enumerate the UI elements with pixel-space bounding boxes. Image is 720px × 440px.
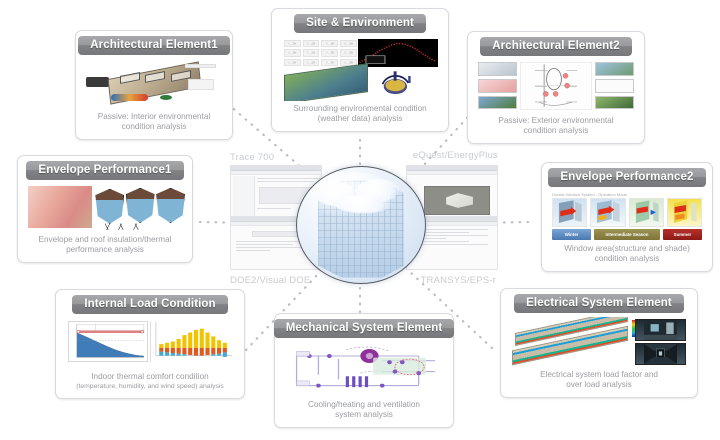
panel-caption-architectural-element-2: Passive: Exterior environmental conditio… xyxy=(472,114,640,140)
panel-electrical-system-element[interactable]: Electrical System Element xyxy=(500,288,698,398)
caption-line-1: Indoor thermal comfort condition xyxy=(91,372,208,381)
caption-sub: (temperature, humidity, and wind speed) … xyxy=(64,383,236,391)
panel-caption-envelope-performance-1: Envelope and roof insulation/thermal per… xyxy=(22,233,188,259)
panel-art-architectural-element-2 xyxy=(475,60,637,113)
caption-line-2: condition analysis xyxy=(595,254,660,263)
panel-architectural-element-1[interactable]: Architectural Element1 Passive: Interior… xyxy=(75,30,233,140)
panel-art-envelope-performance-2: Double Window System - Operation Mode xyxy=(549,191,705,241)
panel-header-electrical-system-element: Electrical System Element xyxy=(514,294,684,313)
caption-line-2: system analysis xyxy=(335,410,393,419)
season-card-winter-2 xyxy=(590,198,625,227)
central-building-globe-icon xyxy=(296,166,426,284)
caption-line-2: over load analysis xyxy=(566,380,632,389)
panel-internal-load-condition[interactable]: Internal Load Condition xyxy=(55,289,245,399)
caption-line-2: condition analysis xyxy=(122,122,187,131)
caption-line-1: Window area(structure and shade) xyxy=(564,244,690,253)
software-label-doe2-visual-doe: DOE2/Visual DOE xyxy=(230,275,310,286)
diagram-canvas: Trace 700 eQuest/EnergyPlus xyxy=(0,0,720,440)
panel-caption-electrical-system-element: Electrical system load factor and over l… xyxy=(505,368,693,394)
caption-line-1: Envelope and roof insulation/thermal xyxy=(39,235,172,244)
panel-mechanical-system-element[interactable]: Mechanical System Element xyxy=(274,313,454,428)
season-card-intermediate xyxy=(629,198,664,227)
panel-caption-site-environment: Surrounding environmental condition (wea… xyxy=(276,102,444,128)
season-bar-winter: Winter xyxy=(552,229,591,240)
panel-architectural-element-2[interactable]: Architectural Element2 xyxy=(467,31,645,144)
season-bar-summer: Summer xyxy=(663,229,702,240)
panel-header-envelope-performance-2: Envelope Performance2 xyxy=(548,168,705,187)
caption-line-1: Passive: Exterior environmental xyxy=(498,116,613,125)
software-label-transys-epsr: TRANSYS/EPS-r xyxy=(421,275,496,286)
panel-art-site-environment xyxy=(279,37,441,101)
panel-caption-internal-load-condition: Indoor thermal comfort condition (temper… xyxy=(60,370,240,394)
panel-art-electrical-system-element xyxy=(508,317,690,367)
software-label-equest-energyplus: eQuest/EnergyPlus xyxy=(413,150,498,161)
panel-art-envelope-performance-1 xyxy=(25,184,185,232)
caption-line-1: Surrounding environmental condition xyxy=(293,104,426,113)
caption-line-2: condition analysis xyxy=(524,126,589,135)
panel-art-architectural-element-1 xyxy=(83,59,225,109)
season-bar-intermediate: Intermediate Season xyxy=(594,229,660,240)
season-card-summer xyxy=(667,198,702,227)
caption-line-1: Electrical system load factor and xyxy=(540,370,658,379)
panel-envelope-performance-2[interactable]: Envelope Performance2 Double Window Syst… xyxy=(541,162,713,272)
caption-line-2: performance analysis xyxy=(66,245,144,254)
panel-site-environment[interactable]: Site & Environment xyxy=(271,8,449,132)
panel-header-architectural-element-1: Architectural Element1 xyxy=(78,36,229,55)
corridor-photo-bottom xyxy=(635,343,686,365)
panel-header-site-environment: Site & Environment xyxy=(294,14,426,33)
panel-caption-mechanical-system-element: Cooling/heating and ventilation system a… xyxy=(279,398,449,424)
panel-header-internal-load-condition: Internal Load Condition xyxy=(72,295,227,314)
season-card-winter-1 xyxy=(552,198,587,227)
panel-envelope-performance-1[interactable]: Envelope Performance1 Envelope and roof … xyxy=(17,155,193,263)
envelope2-inner-note: Double Window System - Operation Mode xyxy=(552,192,627,197)
panel-caption-envelope-performance-2: Window area(structure and shade) conditi… xyxy=(546,242,708,268)
corridor-photo-top xyxy=(635,319,686,341)
panel-header-architectural-element-2: Architectural Element2 xyxy=(480,37,631,56)
caption-line-1: Cooling/heating and ventilation xyxy=(308,400,420,409)
panel-header-mechanical-system-element: Mechanical System Element xyxy=(274,319,455,338)
panel-art-internal-load-condition xyxy=(63,318,237,369)
panel-header-envelope-performance-1: Envelope Performance1 xyxy=(26,161,183,180)
caption-line-2: (weather data) analysis xyxy=(318,114,403,123)
panel-caption-architectural-element-1: Passive: Interior environmental conditio… xyxy=(80,110,228,136)
caption-line-1: Passive: Interior environmental xyxy=(98,112,210,121)
software-label-trace-700: Trace 700 xyxy=(230,152,274,163)
panel-art-mechanical-system-element xyxy=(282,342,446,397)
